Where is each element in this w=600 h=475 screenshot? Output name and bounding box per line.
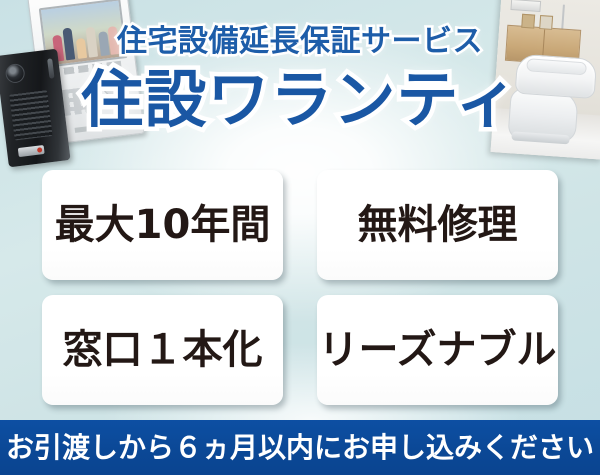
feature-box-grid: 最大10年間 無料修理 窓口１本化 リーズナブル: [42, 170, 558, 405]
feature-box-single-contact: 窓口１本化: [42, 295, 283, 405]
feature-label: 最大10年間: [55, 202, 271, 248]
footer-notice-text: お引渡しから６ヵ月以内にお申し込みください: [6, 431, 594, 465]
promo-banner: 住宅設備延長保証サービス 住設ワランティ 最大10年間 無料修理 窓口１本化 リ…: [0, 0, 600, 475]
page-title: 住設ワランティ: [0, 62, 600, 138]
feature-label: 窓口１本化: [63, 327, 263, 373]
feature-box-max-10-years: 最大10年間: [42, 170, 283, 280]
headline-group: 住宅設備延長保証サービス 住設ワランティ: [0, 0, 600, 158]
service-tagline: 住宅設備延長保証サービス: [0, 22, 600, 62]
feature-box-free-repair: 無料修理: [317, 170, 558, 280]
feature-box-reasonable: リーズナブル: [317, 295, 558, 405]
footer-notice-bar: お引渡しから６ヵ月以内にお申し込みください: [0, 420, 600, 475]
feature-label: 無料修理: [358, 202, 518, 248]
feature-label: リーズナブル: [319, 327, 557, 373]
